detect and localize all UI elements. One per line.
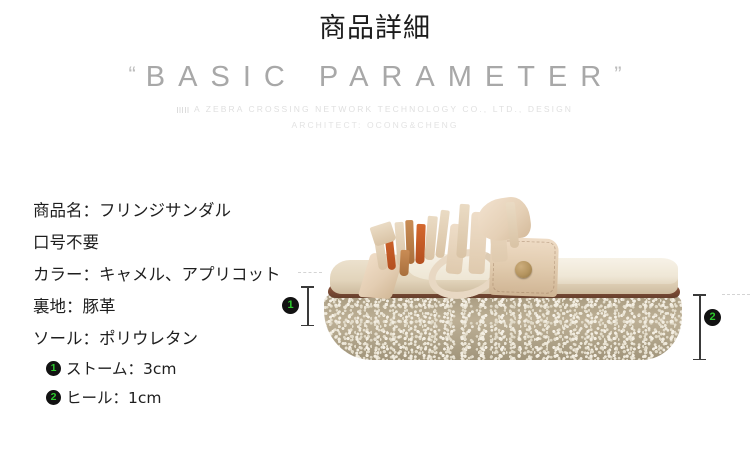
spec-row-size-note: 口号不要 <box>33 227 333 259</box>
callout-bracket-storm <box>307 286 309 326</box>
sandal-sole <box>324 294 682 360</box>
quote-open-icon: “ <box>128 62 135 87</box>
quote-close-icon: ” <box>614 62 621 87</box>
spec-row-color: カラー：キャメル、アプリコット <box>33 259 333 291</box>
badge-2: 2 <box>46 390 61 405</box>
product-photo-sandal <box>312 198 694 380</box>
sandal-button-stud <box>515 261 532 278</box>
callout-leader-storm <box>298 272 322 273</box>
spec-row-heel-height: 2ヒール：1cm <box>33 384 333 413</box>
page-title: 商品詳細 <box>0 12 750 46</box>
product-detail-page: 商品詳細 “BASIC PARAMETER” A ZEBRA CROSSING … <box>0 0 750 459</box>
callout-badge-storm: 1 <box>282 297 299 314</box>
barcode-mark-icon <box>177 107 190 113</box>
basic-parameter-heading: “BASIC PARAMETER” <box>0 58 750 96</box>
callout-leader-heel <box>722 294 750 295</box>
spec-row-product-name: 商品名：フリンジサンダル <box>33 195 333 227</box>
subtitle-line-1: A ZEBRA CROSSING NETWORK TECHNOLOGY CO.,… <box>0 103 750 115</box>
callout-bracket-heel <box>699 294 701 360</box>
sandal-bow <box>475 195 532 244</box>
tassel-strand-10 <box>399 250 409 276</box>
subtitle-line-2: ARCHITECT: OCONG&CHENG <box>0 119 750 131</box>
storm-height-text: ストーム：3cm <box>66 360 177 378</box>
spec-row-sole: ソール：ポリウレタン <box>33 323 333 355</box>
subtitle-line-1-text: A ZEBRA CROSSING NETWORK TECHNOLOGY CO.,… <box>194 104 573 114</box>
callout-badge-heel: 2 <box>704 309 721 326</box>
badge-1: 1 <box>46 361 61 376</box>
basic-parameter-text: BASIC PARAMETER <box>136 61 614 93</box>
heel-height-text: ヒール：1cm <box>66 389 161 407</box>
spec-row-storm-height: 1ストーム：3cm <box>33 355 333 384</box>
